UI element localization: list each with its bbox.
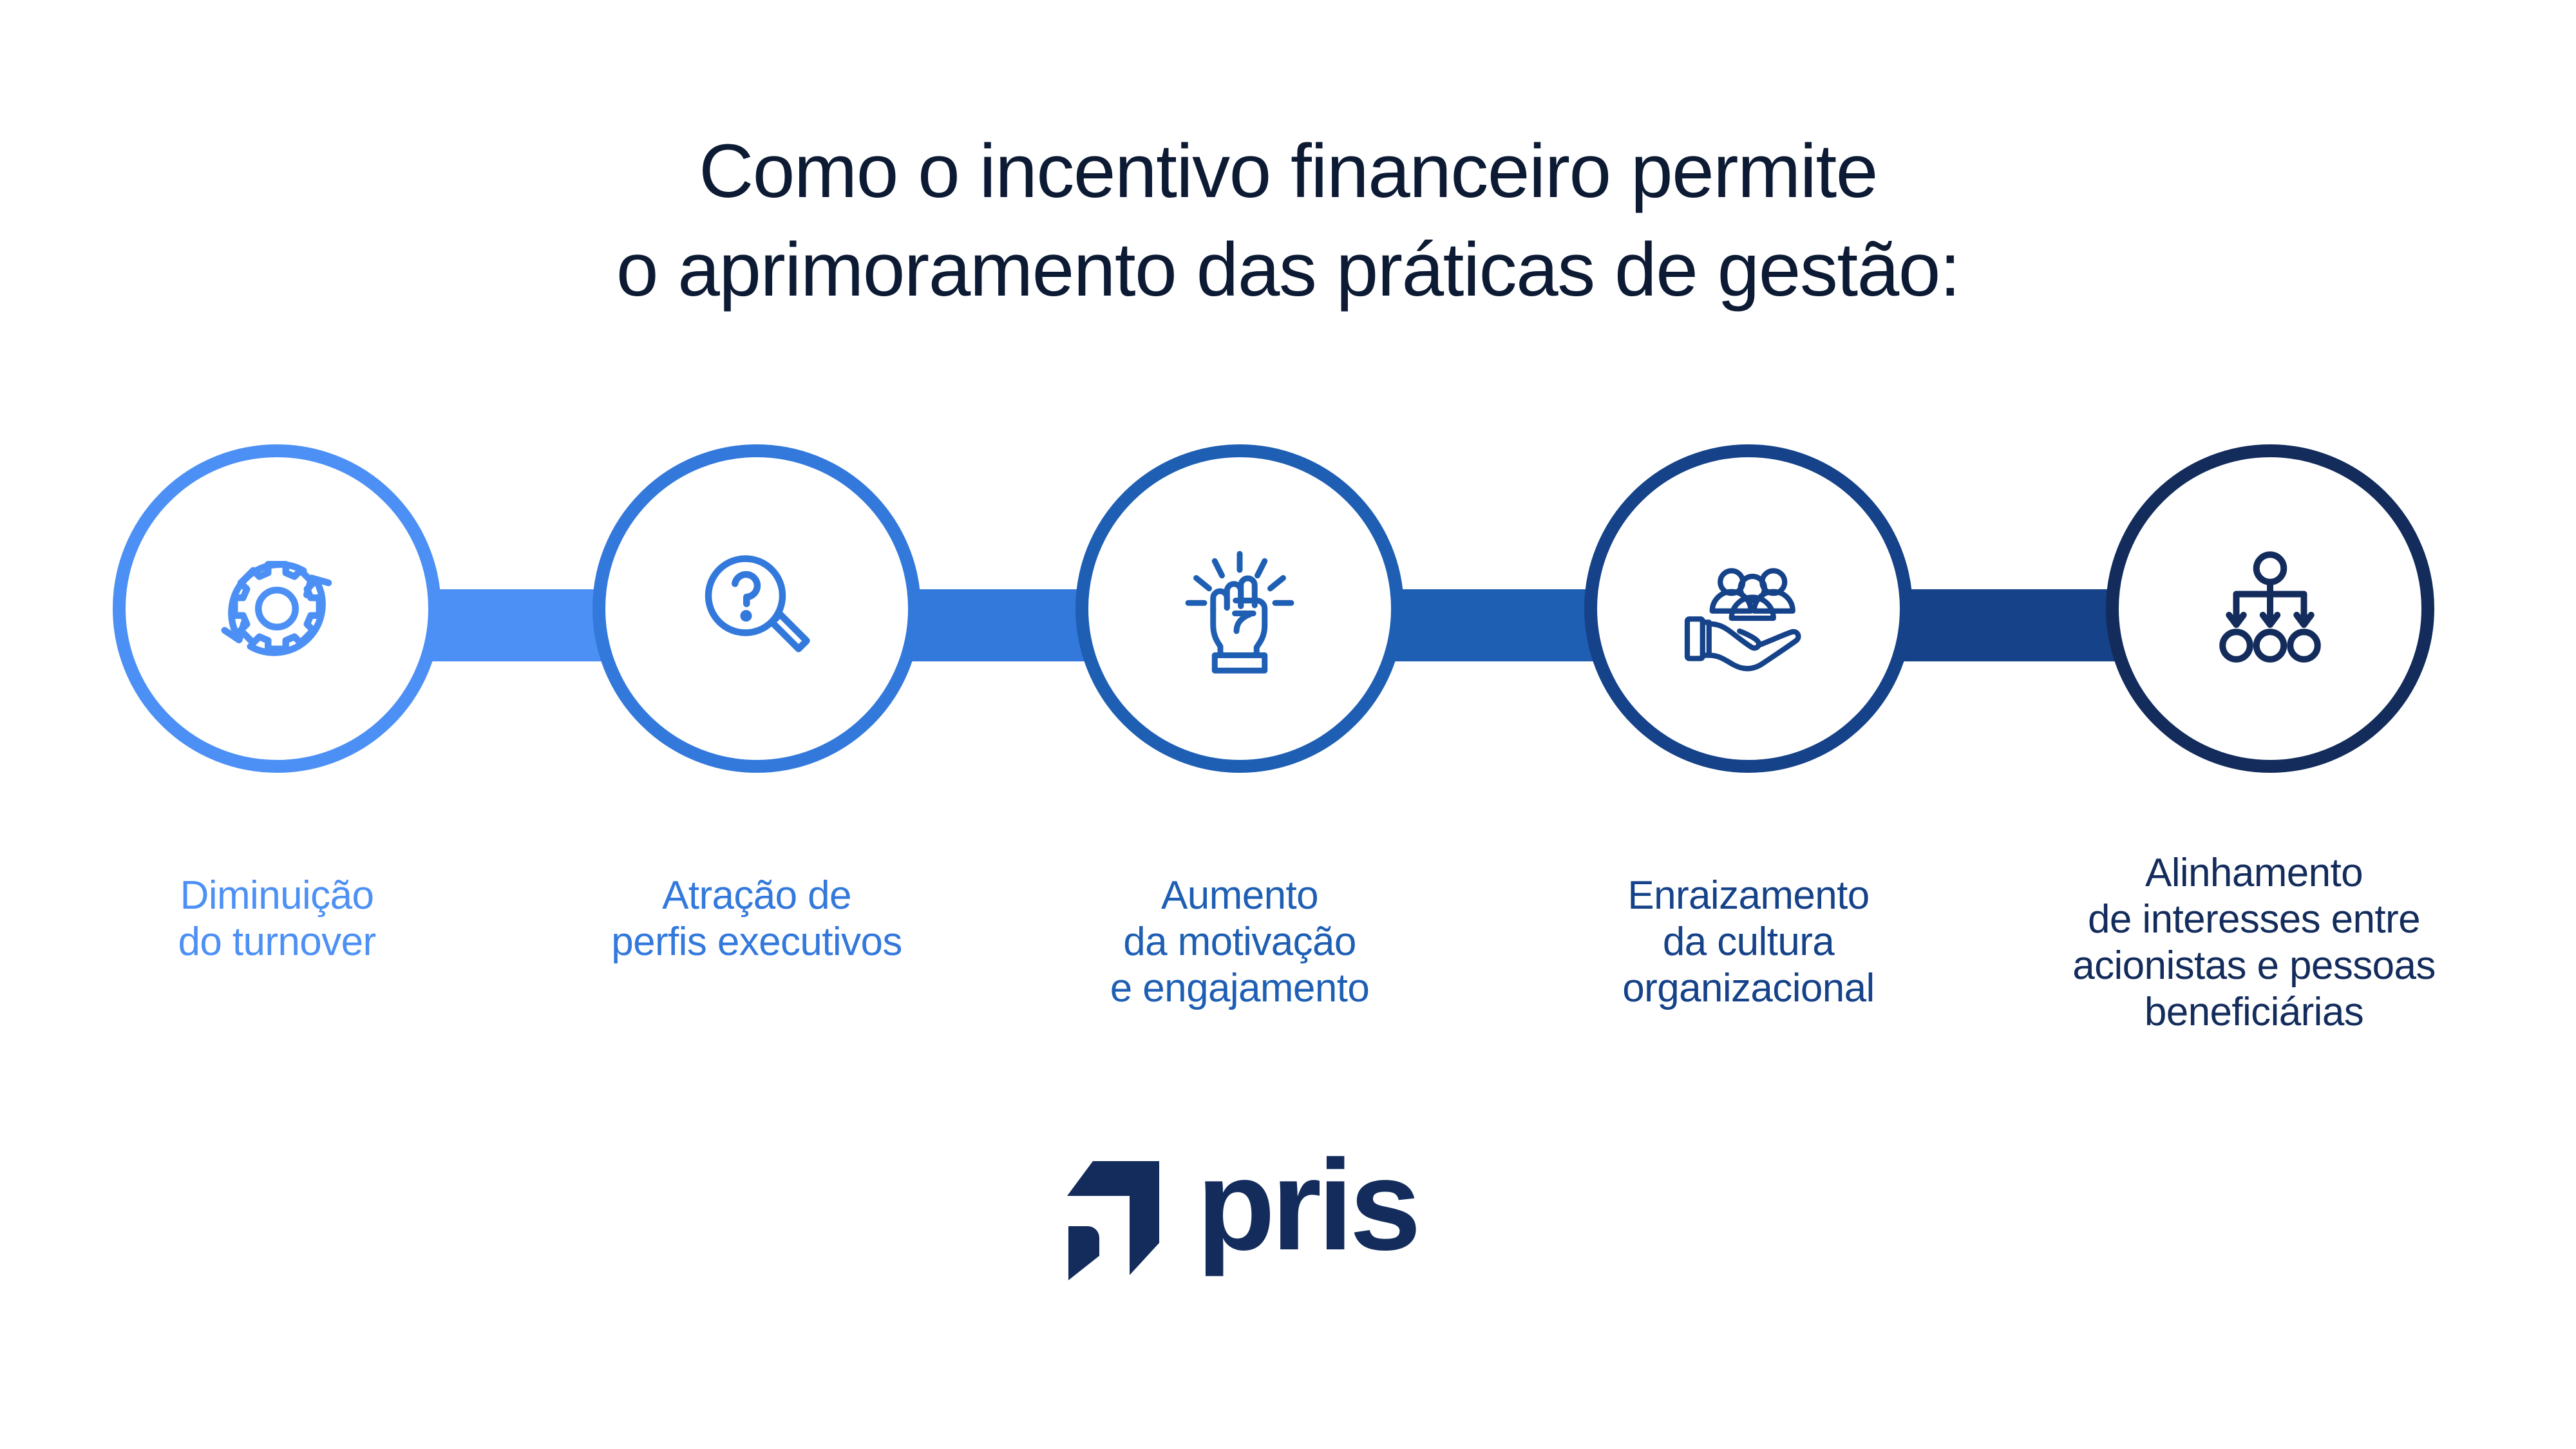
wordmark-text: pris: [1197, 1153, 1417, 1277]
brand-logo[interactable]: pris: [0, 1153, 2576, 1282]
step-label-2: Atração de perfis executivos: [560, 873, 953, 965]
hand-holding-people-icon: [1668, 528, 1829, 689]
step-node-3[interactable]: [1075, 444, 1404, 773]
process-flow-diagram: [0, 444, 2576, 805]
step-label-3: Aumento da motivação e engajamento: [1046, 873, 1433, 1012]
question-dot: [741, 610, 752, 621]
pris-angular-mark-icon: [1065, 1153, 1177, 1282]
step-label-5: Alinhamento de interesses entre acionist…: [2006, 850, 2502, 1036]
pris-wordmark: pris: [1197, 1153, 1512, 1282]
title-line-1: Como o incentivo financeiro permite: [0, 122, 2576, 221]
step-label-4: Enraizamento da cultura organizacional: [1558, 873, 1938, 1012]
page-title: Como o incentivo financeiro permite o ap…: [0, 122, 2576, 320]
step-label-1: Diminuição do turnover: [97, 873, 457, 965]
step-node-1[interactable]: [113, 444, 441, 773]
step-node-4[interactable]: [1584, 444, 1913, 773]
step-node-5[interactable]: [2106, 444, 2434, 773]
gear-refresh-cycle-icon: [196, 528, 357, 689]
org-chart-hierarchy-icon: [2190, 528, 2351, 689]
magnifier-question-mark-icon: [676, 528, 837, 689]
raised-fist-motivation-icon: [1159, 528, 1320, 689]
step-node-2[interactable]: [592, 444, 921, 773]
title-line-2: o aprimoramento das práticas de gestão:: [0, 221, 2576, 319]
